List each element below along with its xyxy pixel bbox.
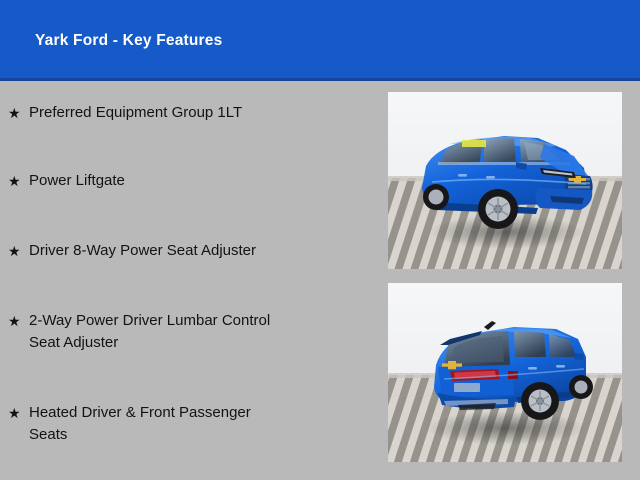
- page-title: Yark Ford - Key Features: [35, 32, 222, 50]
- list-item: ★ 2-Way Power Driver Lumbar Control Seat…: [8, 310, 363, 354]
- header-divider: [0, 78, 640, 81]
- list-item: ★ Preferred Equipment Group 1LT: [8, 102, 363, 124]
- star-bullet-icon: ★: [8, 170, 19, 192]
- list-item: ★ Driver 8-Way Power Seat Adjuster: [8, 240, 363, 262]
- feature-label: 2-Way Power Driver Lumbar Control Seat A…: [29, 310, 363, 354]
- vehicle-photo-rear-image: [388, 283, 622, 462]
- star-bullet-icon: ★: [8, 402, 19, 424]
- star-bullet-icon: ★: [8, 102, 19, 124]
- feature-label: Preferred Equipment Group 1LT: [29, 102, 363, 124]
- key-features-list: ★ Preferred Equipment Group 1LT ★ Power …: [0, 92, 372, 480]
- star-bullet-icon: ★: [8, 310, 19, 332]
- list-item: ★ Power Liftgate: [8, 170, 363, 192]
- vehicle-photo-front-image: [388, 92, 622, 269]
- feature-label: Power Liftgate: [29, 170, 363, 192]
- feature-label: Driver 8-Way Power Seat Adjuster: [29, 240, 363, 262]
- vehicle-photo-rear: [388, 283, 622, 462]
- feature-label: Heated Driver & Front Passenger Seats: [29, 402, 363, 446]
- star-bullet-icon: ★: [8, 240, 19, 262]
- list-item: ★ Heated Driver & Front Passenger Seats: [8, 402, 363, 446]
- vehicle-photo-front: [388, 92, 622, 269]
